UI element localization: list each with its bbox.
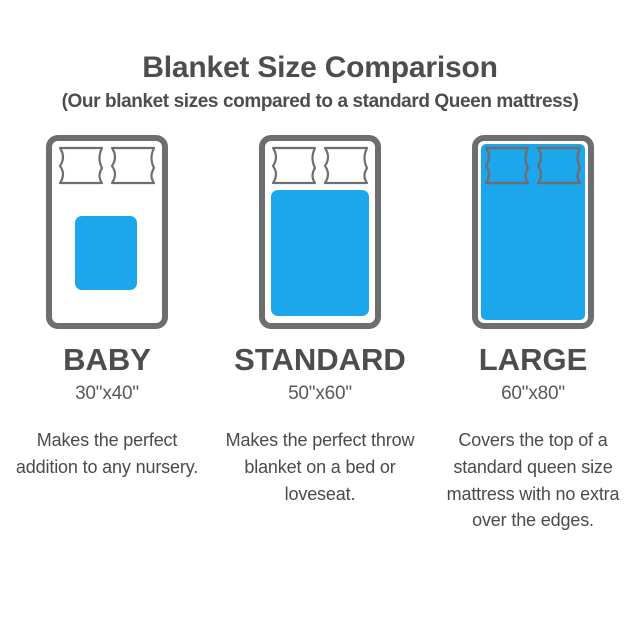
blanket-size-comparison-infographic: Blanket Size Comparison (Our blanket siz… xyxy=(0,0,640,640)
pillow-right-icon xyxy=(325,148,367,183)
comparison-columns: BABY 30"x40" Makes the perfect addition … xyxy=(0,134,640,534)
size-dimensions-large: 60"x80" xyxy=(501,384,565,403)
pillow-left-icon xyxy=(60,148,102,183)
pillow-right-icon xyxy=(112,148,154,183)
size-description-large: Covers the top of a standard queen size … xyxy=(435,427,631,534)
size-column-standard: STANDARD 50"x60" Makes the perfect throw… xyxy=(214,134,427,507)
size-description-standard: Makes the perfect throw blanket on a bed… xyxy=(222,427,418,507)
size-column-baby: BABY 30"x40" Makes the perfect addition … xyxy=(1,134,214,480)
header: Blanket Size Comparison (Our blanket siz… xyxy=(0,0,640,112)
pillow-left-icon xyxy=(273,148,315,183)
size-name-baby: BABY xyxy=(63,344,151,375)
bed-diagram-standard xyxy=(258,134,382,330)
size-description-baby: Makes the perfect addition to any nurser… xyxy=(9,427,205,480)
size-dimensions-baby: 30"x40" xyxy=(75,384,139,403)
bed-illustration-large xyxy=(471,134,595,330)
bed-diagram-baby xyxy=(45,134,169,330)
size-name-standard: STANDARD xyxy=(234,344,406,375)
blanket-shape-large xyxy=(481,144,585,320)
blanket-shape-baby xyxy=(75,216,137,290)
page-title: Blanket Size Comparison xyxy=(0,52,640,84)
page-subtitle: (Our blanket sizes compared to a standar… xyxy=(0,92,640,113)
bed-illustration-baby xyxy=(45,134,169,330)
size-name-large: LARGE xyxy=(479,344,588,375)
bed-illustration-standard xyxy=(258,134,382,330)
bed-diagram-large xyxy=(471,134,595,330)
size-dimensions-standard: 50"x60" xyxy=(288,384,352,403)
blanket-shape-standard xyxy=(271,190,369,316)
size-column-large: LARGE 60"x80" Covers the top of a standa… xyxy=(427,134,640,534)
